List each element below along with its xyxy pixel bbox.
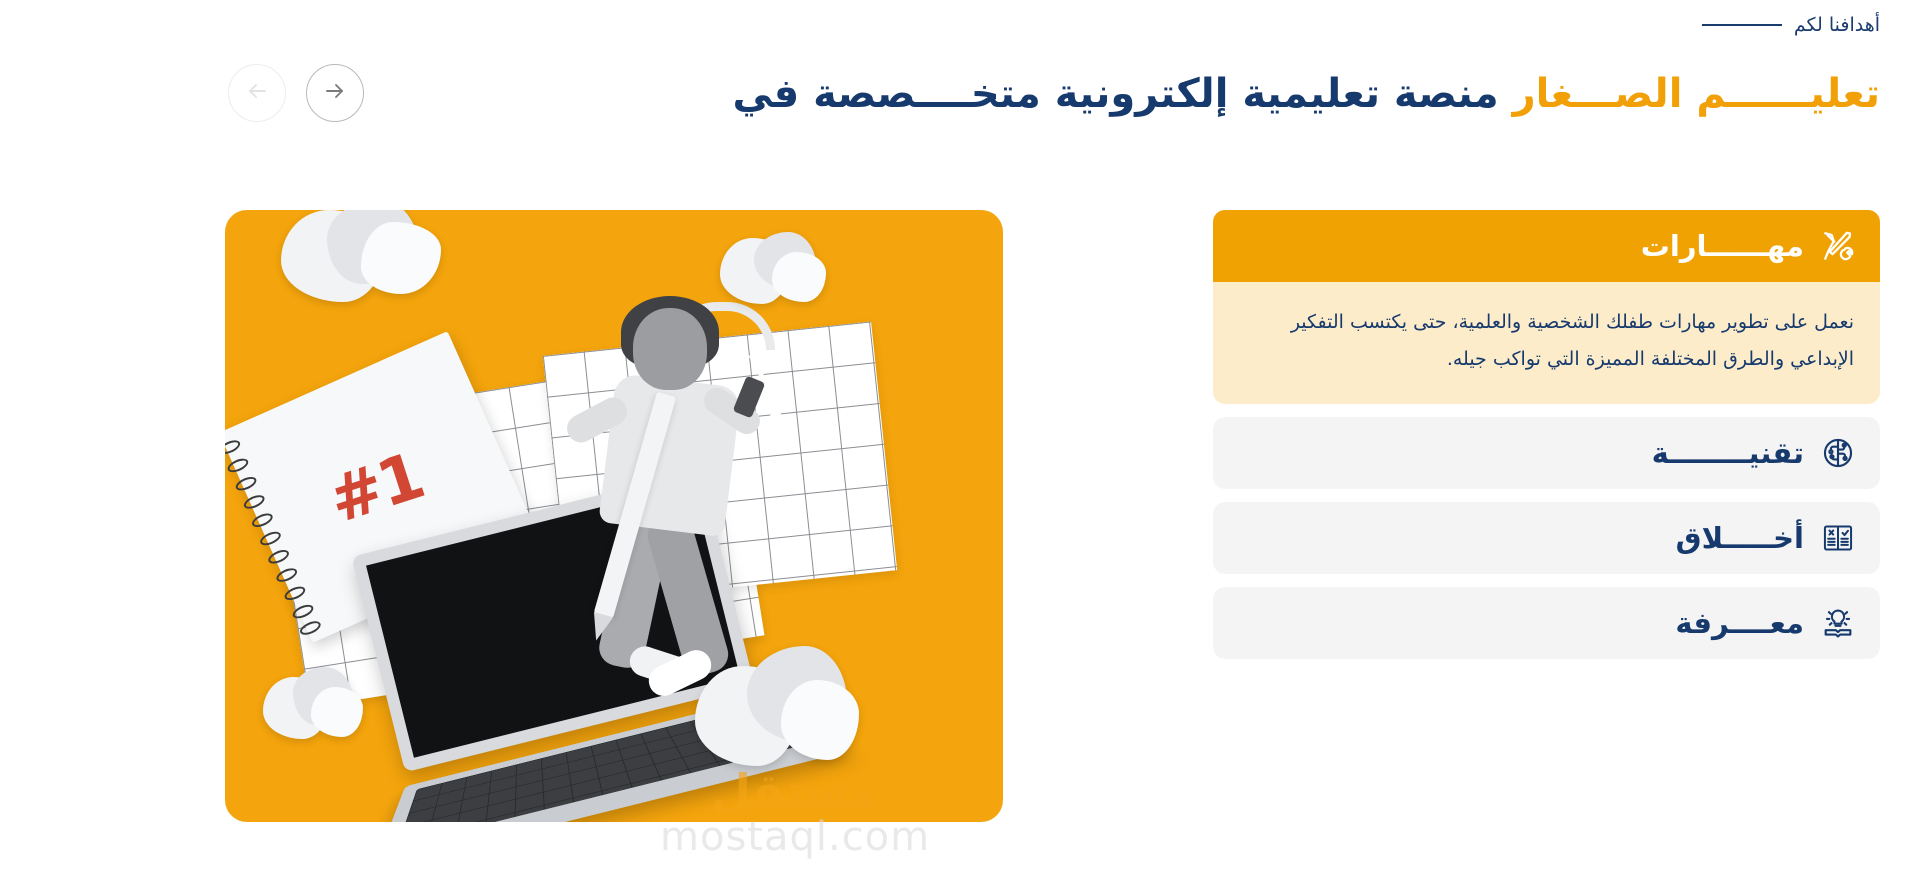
page-title-accent: تعليــــــم الصـــغار <box>1513 71 1880 117</box>
figure-head <box>633 308 707 390</box>
paper-ball-bottom-right <box>695 640 870 775</box>
paper-ball-bottom-left <box>263 665 368 747</box>
circuit-brain-icon <box>1818 433 1858 473</box>
hash-one-label: #1 <box>320 440 431 539</box>
accordion-title-skills: مهــــــارات <box>1641 229 1804 263</box>
section-eyebrow: أهدافنا لكم <box>1702 14 1880 36</box>
headline-row: تعليــــــم الصـــغار منصة تعليمية إلكتر… <box>0 62 1908 126</box>
lightbulb-book-icon <box>1818 603 1858 643</box>
tools-pen-wrench-icon <box>1818 226 1858 266</box>
accordion-header-technology[interactable]: تقنيــــــــة <box>1213 417 1880 489</box>
accordion-item-technology: تقنيــــــــة <box>1213 417 1880 489</box>
accordion-header-knowledge[interactable]: معــــرفة <box>1213 587 1880 659</box>
eyebrow-rule <box>1702 24 1782 26</box>
carousel-next-button[interactable] <box>306 64 364 122</box>
carousel-prev-button[interactable] <box>228 64 286 122</box>
page-title-lead: منصة تعليمية إلكترونية متخــــصصة في <box>733 71 1499 117</box>
goals-accordion: مهــــــارات نعمل على تطوير مهارات طفلك … <box>1213 210 1880 659</box>
accordion-header-ethics[interactable]: أخـــــلاق <box>1213 502 1880 574</box>
eyebrow-label: أهدافنا لكم <box>1794 14 1880 36</box>
arrow-left-icon <box>245 79 269 107</box>
accordion-title-knowledge: معــــرفة <box>1675 606 1804 640</box>
collage-illustration: #1 <box>225 210 1003 822</box>
spiral-binding-icon <box>225 435 324 637</box>
paper-ball-top-right <box>720 228 830 313</box>
figure-phone <box>733 376 766 419</box>
accordion-panel-skills: نعمل على تطوير مهارات طفلك الشخصية والعل… <box>1213 282 1880 404</box>
carousel-nav <box>228 64 364 122</box>
section-body: #1 <box>0 210 1908 830</box>
goals-section: أهدافنا لكم تعليــــــم الصـــغار منصة ت… <box>0 0 1908 887</box>
accordion-item-knowledge: معــــرفة <box>1213 587 1880 659</box>
accordion-title-ethics: أخـــــلاق <box>1676 521 1804 555</box>
accordion-header-skills[interactable]: مهــــــارات <box>1213 210 1880 282</box>
accordion-title-technology: تقنيــــــــة <box>1652 436 1804 470</box>
hero-image-panel: #1 <box>225 210 1003 822</box>
accordion-item-ethics: أخـــــلاق <box>1213 502 1880 574</box>
arrow-right-icon <box>323 79 347 107</box>
open-book-icon <box>1818 518 1858 558</box>
page-title: تعليــــــم الصـــغار منصة تعليمية إلكتر… <box>733 62 1880 126</box>
accordion-body-text-skills: نعمل على تطوير مهارات طفلك الشخصية والعل… <box>1239 304 1854 378</box>
paper-ball-top-left <box>275 210 450 312</box>
accordion-item-skills: مهــــــارات نعمل على تطوير مهارات طفلك … <box>1213 210 1880 404</box>
